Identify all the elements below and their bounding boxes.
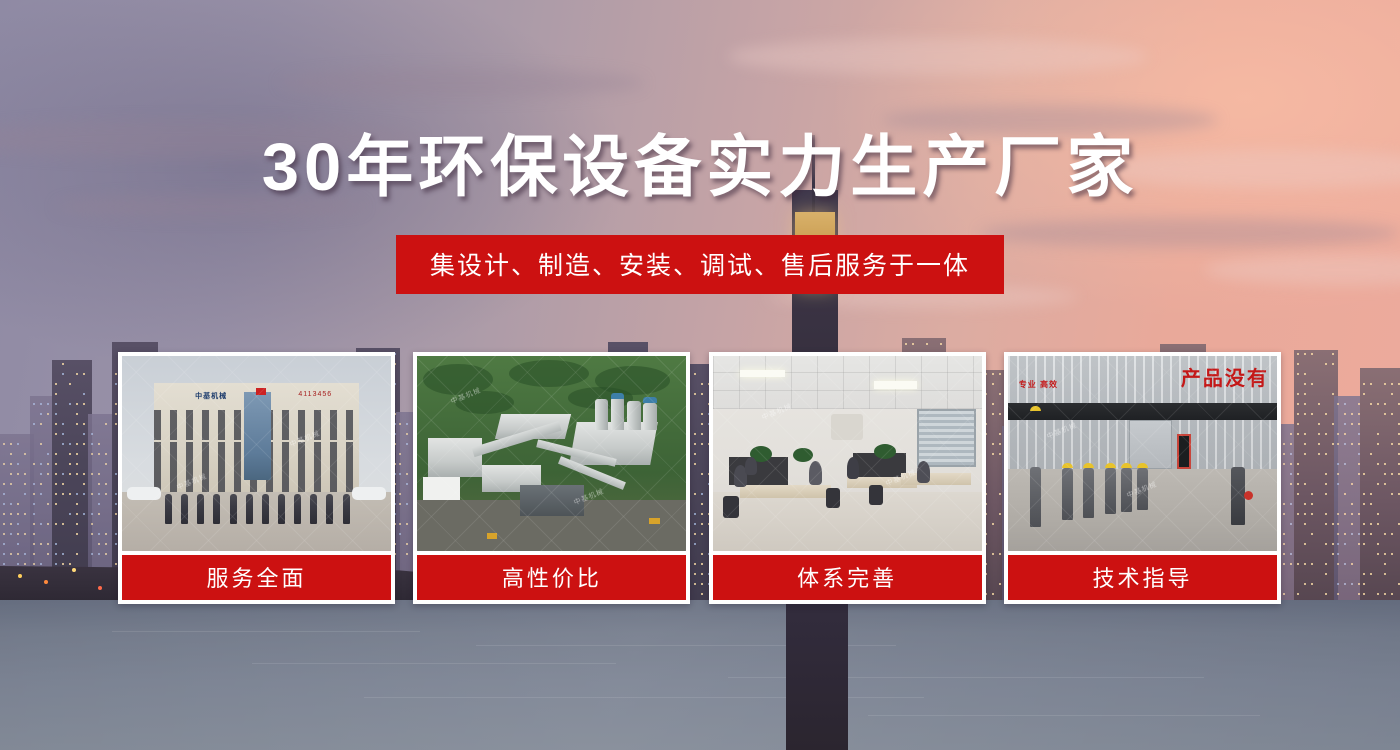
company-headquarters-photo: 中基机械 4113456 中基机械 中基机	[122, 356, 391, 551]
feature-card[interactable]: 中基机械 中基机械 体系完善	[709, 352, 986, 604]
watermark-mesh	[713, 356, 982, 551]
feature-card[interactable]: 中基机械 中基机械 高性价比	[413, 352, 690, 604]
card-caption: 服务全面	[122, 555, 391, 600]
card-caption: 技术指导	[1008, 555, 1277, 600]
office-interior-photo: 中基机械 中基机械	[713, 356, 982, 551]
aerial-plant-photo: 中基机械 中基机械	[417, 356, 686, 551]
subtitle-banner: 集设计、制造、安装、调试、售后服务于一体	[396, 235, 1004, 294]
hero-banner: 30年环保设备实力生产厂家 集设计、制造、安装、调试、售后服务于一体 中基机械 …	[0, 0, 1400, 750]
watermark-mesh	[1008, 356, 1277, 551]
card-caption: 高性价比	[417, 555, 686, 600]
water-reflection	[0, 600, 1400, 750]
workers-training-photo: 产品没有 专业 高效	[1008, 356, 1277, 551]
watermark-mesh	[417, 356, 686, 551]
watermark-mesh	[122, 356, 391, 551]
subtitle-container: 集设计、制造、安装、调试、售后服务于一体	[0, 235, 1400, 294]
feature-card-list: 中基机械 4113456 中基机械 中基机	[118, 352, 1281, 604]
card-caption: 体系完善	[713, 555, 982, 600]
page-title: 30年环保设备实力生产厂家	[0, 134, 1400, 201]
feature-card[interactable]: 产品没有 专业 高效	[1004, 352, 1281, 604]
feature-card[interactable]: 中基机械 4113456 中基机械 中基机	[118, 352, 395, 604]
